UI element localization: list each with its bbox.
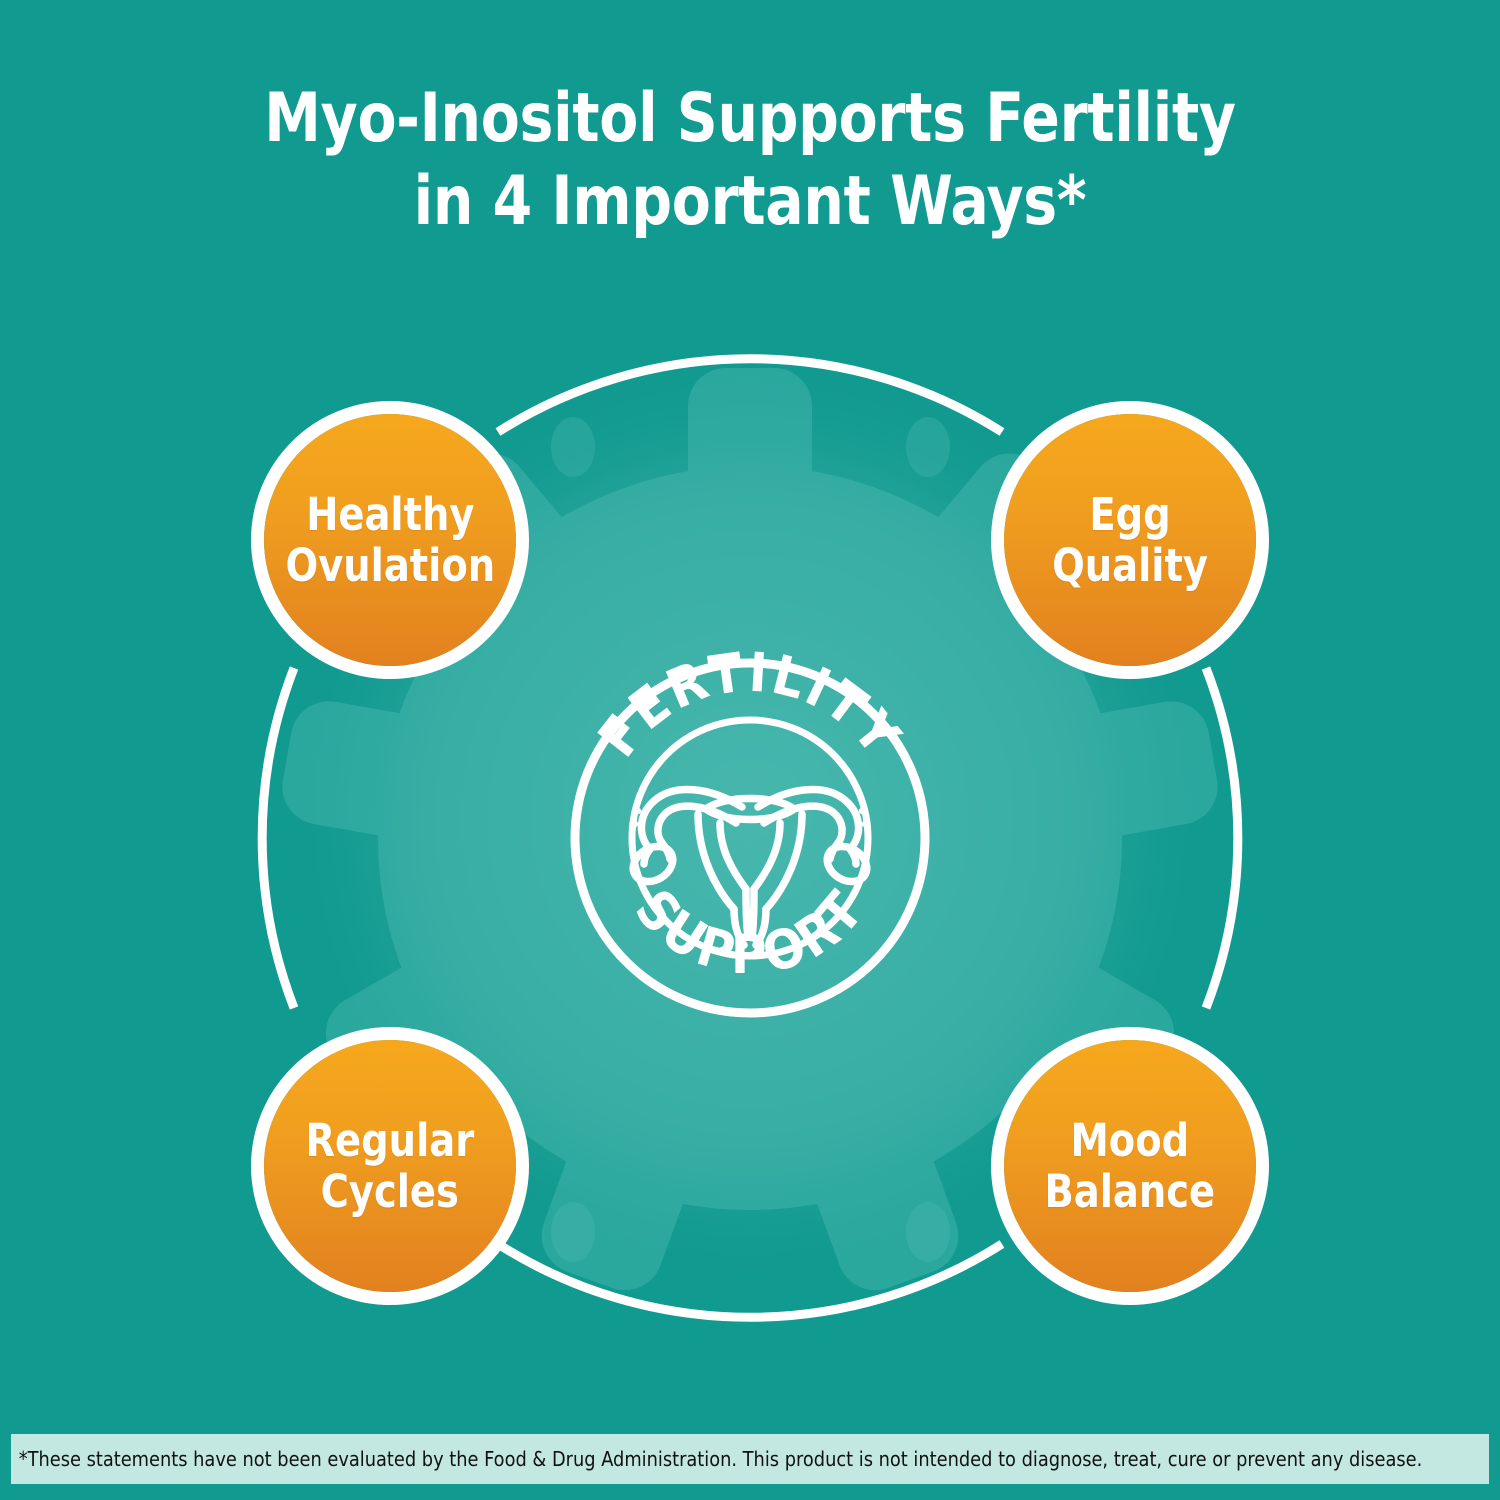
benefit-node-egg-quality[interactable]: Egg Quality: [1004, 414, 1256, 666]
benefit-node-healthy-ovulation[interactable]: Healthy Ovulation: [264, 414, 516, 666]
benefit-label: Egg Quality: [1044, 489, 1215, 592]
benefit-label: Mood Balance: [1037, 1115, 1223, 1218]
disclaimer-bar: *These statements have not been evaluate…: [11, 1434, 1489, 1484]
infographic-canvas: FERTILITY SUPPORT: [0, 0, 1500, 1500]
benefit-node-mood-balance[interactable]: Mood Balance: [1004, 1040, 1256, 1292]
disclaimer-text: *These statements have not been evaluate…: [11, 1447, 1437, 1471]
center-badge: FERTILITY SUPPORT: [0, 0, 1500, 1500]
benefit-label: Regular Cycles: [298, 1115, 482, 1218]
benefit-node-regular-cycles[interactable]: Regular Cycles: [264, 1040, 516, 1292]
benefit-label: Healthy Ovulation: [278, 489, 503, 592]
badge-top-arc-text: FERTILITY: [586, 640, 914, 768]
